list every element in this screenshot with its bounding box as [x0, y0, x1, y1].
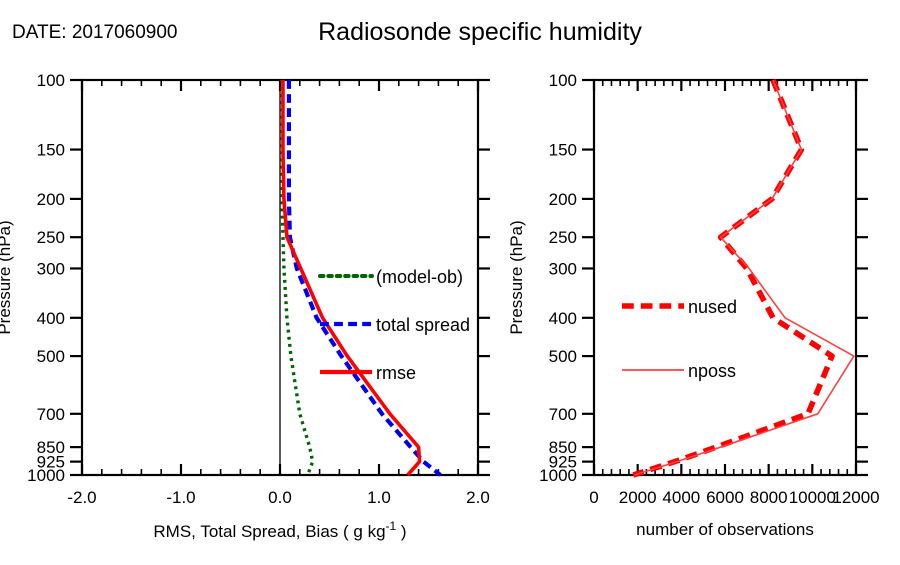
series--model-ob- — [282, 80, 313, 475]
y-tick-label: 100 — [549, 71, 577, 90]
x-tick-label: -1.0 — [166, 488, 195, 507]
x-tick-label: 10000 — [789, 488, 836, 507]
y-axis-title: Pressure (hPa) — [507, 220, 526, 334]
x-axis-title: RMS, Total Spread, Bias ( g kg-1 ) — [153, 519, 406, 541]
y-tick-label: 200 — [37, 190, 65, 209]
x-tick-label: 0.0 — [268, 488, 292, 507]
x-tick-label: 1.0 — [367, 488, 391, 507]
figure-canvas: DATE: 2017060900Radiosonde specific humi… — [0, 0, 900, 560]
x-axis-ticks-left-panel: -2.0-1.00.01.02.0 — [67, 80, 489, 507]
x-axis-title: number of observations — [636, 520, 814, 539]
y-tick-label: 1000 — [27, 466, 65, 485]
y-tick-label: 700 — [37, 405, 65, 424]
series-nposs — [634, 80, 853, 475]
legend-right-panel: nusednposs — [622, 297, 737, 381]
y-tick-label: 150 — [37, 141, 65, 160]
y-tick-label: 500 — [37, 347, 65, 366]
date-label: DATE: 2017060900 — [12, 22, 178, 43]
series-nused — [633, 80, 832, 475]
x-tick-label: 2.0 — [466, 488, 490, 507]
panel-right-panel: 0200040006000800010000120001001502002503… — [507, 71, 880, 539]
y-tick-label: 200 — [549, 190, 577, 209]
y-tick-label: 700 — [549, 405, 577, 424]
x-tick-label: 6000 — [706, 488, 744, 507]
y-tick-label: 400 — [37, 309, 65, 328]
series-group-right-panel — [633, 80, 854, 475]
y-tick-label: 500 — [549, 347, 577, 366]
y-tick-label: 400 — [549, 309, 577, 328]
legend-label-rmse: rmse — [376, 363, 416, 383]
x-tick-label: -2.0 — [67, 488, 96, 507]
x-tick-label: 8000 — [750, 488, 788, 507]
y-tick-label: 300 — [549, 259, 577, 278]
page-title: Radiosonde specific humidity — [318, 18, 642, 46]
y-tick-label: 250 — [549, 228, 577, 247]
radiosonde-figure-svg: DATE: 2017060900Radiosonde specific humi… — [0, 0, 900, 560]
x-tick-label: 2000 — [619, 488, 657, 507]
x-tick-label: 0 — [589, 488, 598, 507]
y-tick-label: 100 — [37, 71, 65, 90]
y-axis-title: Pressure (hPa) — [0, 220, 14, 334]
x-tick-label: 4000 — [662, 488, 700, 507]
plot-frame-right-panel — [594, 80, 856, 475]
x-tick-label: 12000 — [832, 488, 879, 507]
y-axis-ticks-right-panel: 1001502002503004005007008509251000 — [539, 71, 868, 485]
legend-label-nused: nused — [688, 297, 737, 317]
legend-label-total-spread: total spread — [376, 315, 470, 335]
y-tick-label: 250 — [37, 228, 65, 247]
legend-label-nposs: nposs — [688, 361, 736, 381]
legend-left-panel: (model-ob)total spreadrmse — [320, 267, 470, 383]
y-tick-label: 300 — [37, 259, 65, 278]
y-tick-label: 150 — [549, 141, 577, 160]
y-tick-label: 1000 — [539, 466, 577, 485]
legend-label--model-ob-: (model-ob) — [376, 267, 463, 287]
panel-left-panel: -2.0-1.00.01.02.010015020025030040050070… — [0, 71, 490, 541]
